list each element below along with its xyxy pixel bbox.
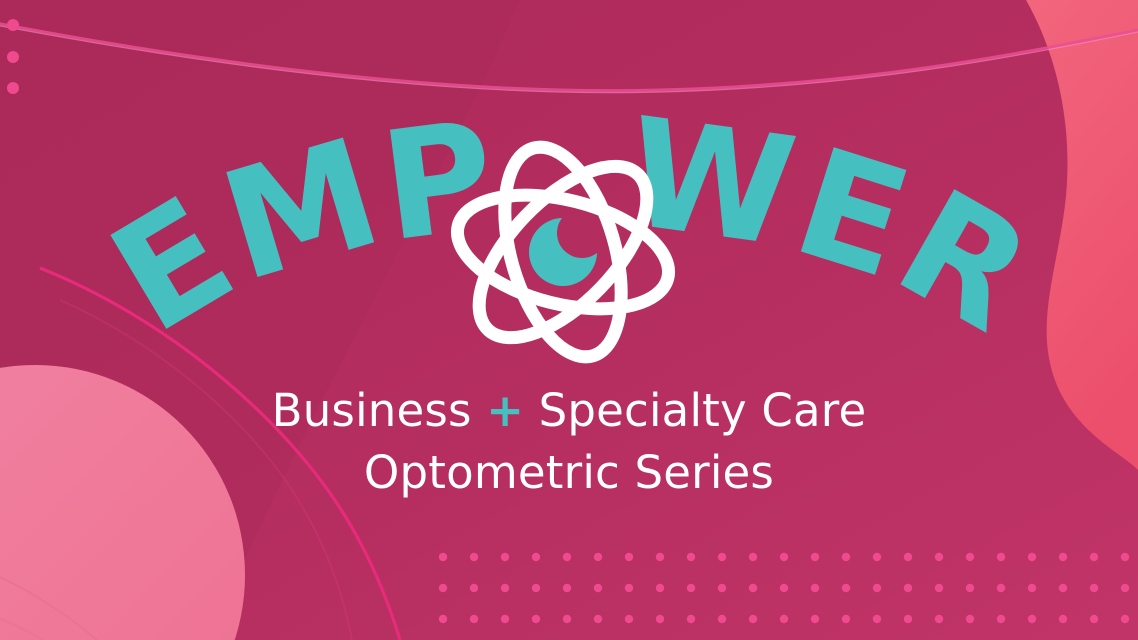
grid-dot [935, 553, 943, 561]
grid-dot [811, 584, 819, 592]
grid-dot [997, 615, 1005, 623]
grid-dot [935, 584, 943, 592]
grid-dot [749, 584, 757, 592]
grid-dot [656, 553, 664, 561]
subtitle-specialty-care: Specialty Care [539, 384, 867, 437]
grid-dot [966, 553, 974, 561]
corner-dot [7, 51, 19, 63]
grid-dot [1121, 584, 1129, 592]
grid-dot [749, 615, 757, 623]
grid-dot [842, 615, 850, 623]
grid-dot [470, 584, 478, 592]
grid-dot [501, 553, 509, 561]
grid-dot [1121, 615, 1129, 623]
grid-dot [687, 584, 695, 592]
grid-dot [873, 615, 881, 623]
grid-dot [811, 615, 819, 623]
grid-dot [501, 615, 509, 623]
grid-dot [904, 584, 912, 592]
grid-dot [873, 553, 881, 561]
grid-dot [1059, 553, 1067, 561]
grid-dot [532, 553, 540, 561]
grid-dot [439, 584, 447, 592]
grid-dot [625, 584, 633, 592]
subtitle-line-1: Business + Specialty Care [0, 388, 1138, 433]
grid-dot [780, 615, 788, 623]
grid-dot [1090, 615, 1098, 623]
background-artwork [0, 0, 1138, 640]
grid-dot [1028, 615, 1036, 623]
grid-dot [904, 553, 912, 561]
grid-dot [470, 615, 478, 623]
grid-dot [780, 584, 788, 592]
grid-dot [1059, 584, 1067, 592]
grid-dot [1090, 584, 1098, 592]
grid-dot [563, 584, 571, 592]
grid-dot [718, 553, 726, 561]
grid-dot [687, 553, 695, 561]
subtitle-line-2: Optometric Series [0, 450, 1138, 495]
grid-dot [625, 615, 633, 623]
grid-dot [594, 584, 602, 592]
grid-dot [563, 553, 571, 561]
grid-dot [873, 584, 881, 592]
grid-dot [594, 615, 602, 623]
subtitle-business: Business [272, 384, 472, 437]
grid-dot [563, 615, 571, 623]
grid-dot [625, 553, 633, 561]
grid-dot [439, 553, 447, 561]
grid-dot [904, 615, 912, 623]
grid-dot [1121, 553, 1129, 561]
grid-dot [1028, 584, 1036, 592]
grid-dot [749, 553, 757, 561]
grid-dot [532, 615, 540, 623]
grid-dot [656, 584, 664, 592]
grid-dot [1028, 553, 1036, 561]
corner-dot [7, 82, 19, 94]
grid-dot [935, 615, 943, 623]
grid-dot [966, 615, 974, 623]
grid-dot [687, 615, 695, 623]
grid-dot [532, 584, 540, 592]
grid-dot [997, 584, 1005, 592]
grid-dot [997, 553, 1005, 561]
grid-dot [470, 553, 478, 561]
grid-dot [1059, 615, 1067, 623]
corner-dot [7, 19, 19, 31]
grid-dot [439, 615, 447, 623]
grid-dot [656, 615, 664, 623]
subtitle-plus-sign: + [486, 384, 524, 437]
grid-dot [842, 553, 850, 561]
grid-dot [594, 553, 602, 561]
grid-dot [1090, 553, 1098, 561]
grid-dot [811, 553, 819, 561]
grid-dot [718, 584, 726, 592]
grid-dot [780, 553, 788, 561]
grid-dot [718, 615, 726, 623]
grid-dot [842, 584, 850, 592]
grid-dot [501, 584, 509, 592]
slide-canvas: EMP WER Business + Specialty Care Optome… [0, 0, 1138, 640]
grid-dot [966, 584, 974, 592]
